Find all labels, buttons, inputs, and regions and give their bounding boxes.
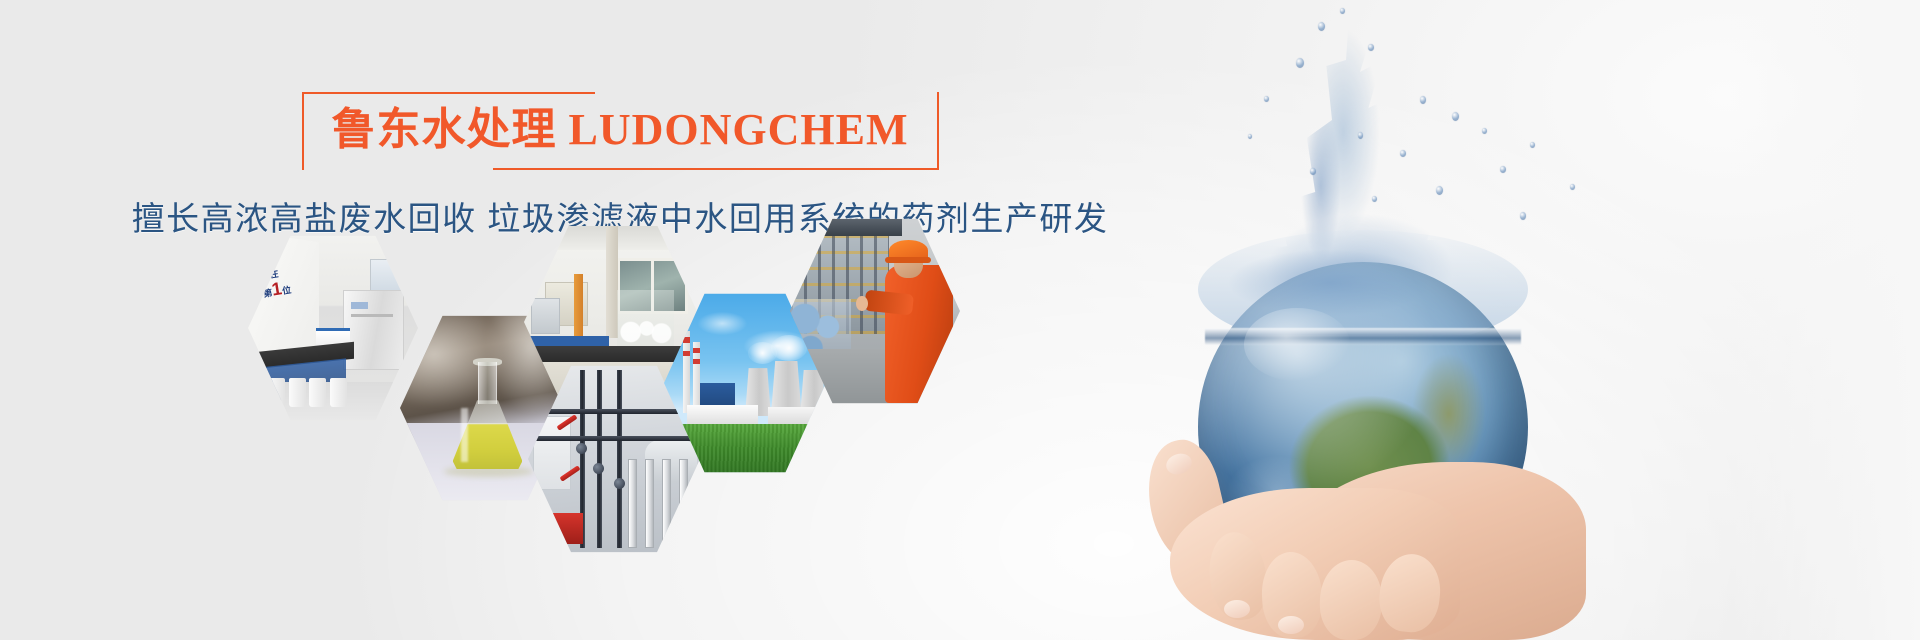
worker-orange-coverall (885, 265, 953, 403)
water-droplet (1520, 212, 1526, 220)
orange-clamp-stand (574, 274, 583, 338)
flask-neck (478, 362, 497, 404)
hexagon-photo-mosaic: 放在 第1位 (0, 0, 1240, 640)
chemical-jug (309, 378, 326, 407)
hex-photo-laboratory-slogan-wall[interactable]: 放在 第1位 (248, 232, 418, 424)
water-droplet (1482, 128, 1487, 134)
valve-handle (593, 463, 604, 474)
horizontal-pipe (535, 409, 693, 414)
steam-plume (771, 335, 807, 361)
water-droplet (1530, 142, 1535, 148)
water-droplet (1436, 186, 1443, 195)
water-droplet (1296, 58, 1304, 68)
membrane-vessel (662, 459, 671, 548)
wall-slogan-text: 放在 第1位 (260, 268, 292, 300)
plant-building-white (768, 407, 817, 424)
globe-highlight (1244, 308, 1350, 381)
blue-bench-rail (528, 336, 610, 346)
water-droplet (1570, 184, 1575, 190)
membrane-vessel (679, 459, 688, 548)
chemical-jug (268, 378, 285, 407)
cupped-hands (1136, 404, 1606, 640)
side-cabinet (531, 298, 559, 334)
vertical-pipe (617, 370, 622, 548)
chemical-jug (289, 378, 306, 407)
water-droplet (1310, 168, 1316, 175)
slogan-suffix: 位 (281, 285, 291, 296)
water-droplet (1400, 150, 1406, 157)
water-droplet (1452, 112, 1459, 121)
water-droplet (1368, 44, 1374, 51)
hard-hat-brim (885, 257, 931, 263)
water-droplet (1340, 8, 1345, 14)
valve-handle (576, 443, 587, 454)
water-droplet (1500, 166, 1506, 173)
water-droplet (1420, 96, 1426, 104)
flask-highlight (461, 408, 468, 462)
glassware-cluster (617, 290, 674, 350)
water-droplet (1264, 96, 1269, 102)
water-droplet (1248, 134, 1252, 139)
chemical-jug (330, 378, 347, 407)
water-droplet (1358, 132, 1363, 139)
vertical-pipe (597, 370, 602, 548)
fingernail (1278, 616, 1304, 634)
membrane-vessel (645, 459, 654, 548)
membrane-vessel (628, 459, 637, 548)
fingernail (1224, 600, 1250, 618)
overhead-duct (790, 219, 902, 236)
valve-handle (614, 478, 625, 489)
water-droplet (1372, 196, 1377, 202)
red-equipment-box (538, 513, 583, 544)
company-banner: 鲁东水处理 LUDONGCHEM 擅长高浓高盐废水回收 垃圾渗滤液中水回用系统的… (0, 0, 1920, 640)
hands-holding-water-globe-artwork (1100, 0, 1740, 640)
smoke-stack (683, 331, 690, 413)
plant-building-white (687, 405, 758, 424)
horizontal-pipe (535, 436, 693, 441)
water-droplet (1318, 22, 1325, 31)
laboratory-photo: 放在 第1位 (248, 232, 418, 424)
right-edge-fade (1730, 0, 1920, 640)
